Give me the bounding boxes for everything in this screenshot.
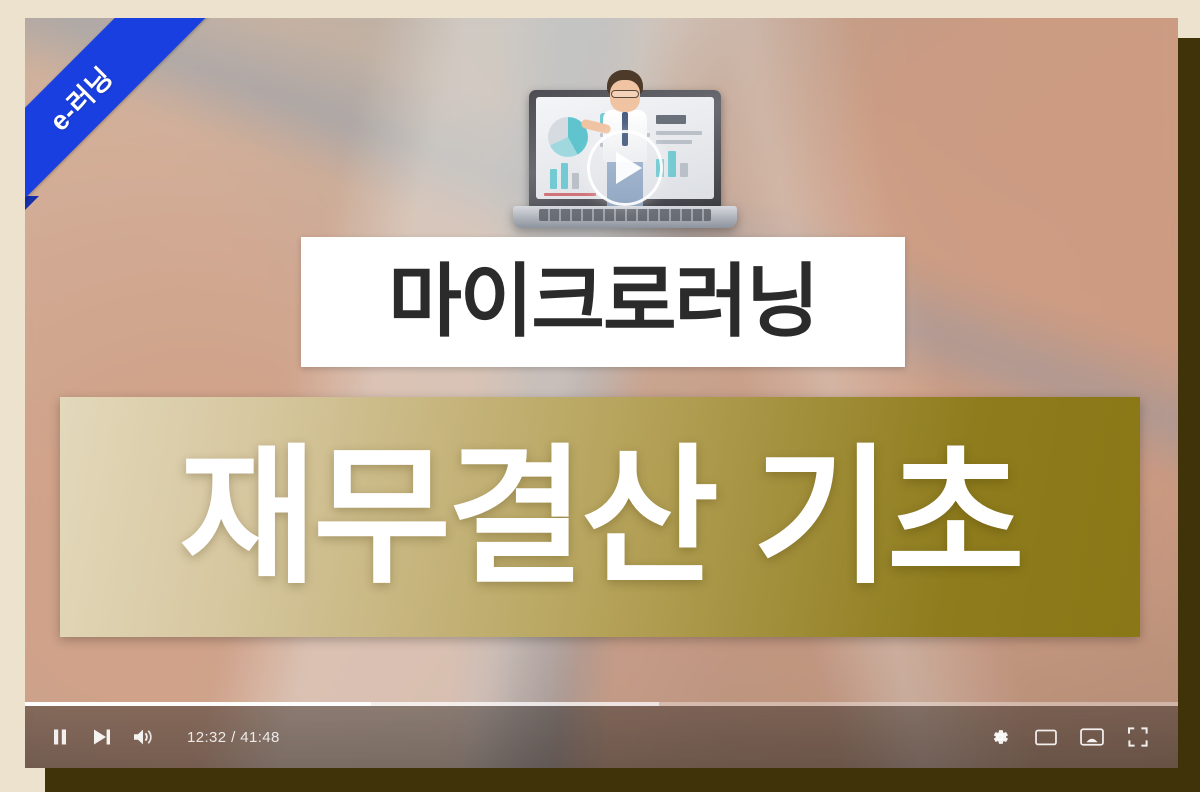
gear-icon [989,726,1011,748]
page-title: 재무결산 기초 [179,442,1021,592]
settings-button[interactable] [980,717,1020,757]
bar-chart-icon [680,163,688,177]
bar-chart-icon [561,163,568,189]
next-button[interactable] [83,718,121,756]
slide-badge [656,115,686,124]
volume-button[interactable] [125,718,163,756]
play-button[interactable] [587,130,663,206]
theater-mode-icon [1079,726,1105,748]
next-track-icon [91,727,113,747]
bar-chart-icon [572,173,579,189]
theater-button[interactable] [1072,717,1112,757]
volume-icon [132,727,156,747]
controls-row: 12:32 / 41:48 [25,706,1178,768]
laptop-base [513,206,737,228]
pause-button[interactable] [41,718,79,756]
miniplayer-icon [1034,726,1058,748]
glasses-icon [611,90,639,98]
slide-footer-line [544,193,596,196]
slide-text-line [656,131,702,135]
bar-chart-icon [668,151,676,177]
bar-chart-icon [550,169,557,189]
fullscreen-button[interactable] [1118,717,1158,757]
play-icon [616,152,642,184]
laptop-keyboard [539,209,711,221]
time-display: 12:32 / 41:48 [187,729,280,746]
page-background: 마이크로러닝 재무결산 기초 e-러닝 [0,0,1200,792]
subtitle-banner: 마이크로러닝 [301,237,905,367]
video-player[interactable]: 마이크로러닝 재무결산 기초 e-러닝 [25,18,1178,768]
title-banner: 재무결산 기초 [60,397,1140,637]
pause-icon [50,727,70,747]
fullscreen-icon [1127,726,1149,748]
miniplayer-button[interactable] [1026,717,1066,757]
slide-text-line [656,140,692,144]
subtitle-text: 마이크로러닝 [388,262,818,342]
player-controls-bar[interactable]: 12:32 / 41:48 [25,706,1178,768]
